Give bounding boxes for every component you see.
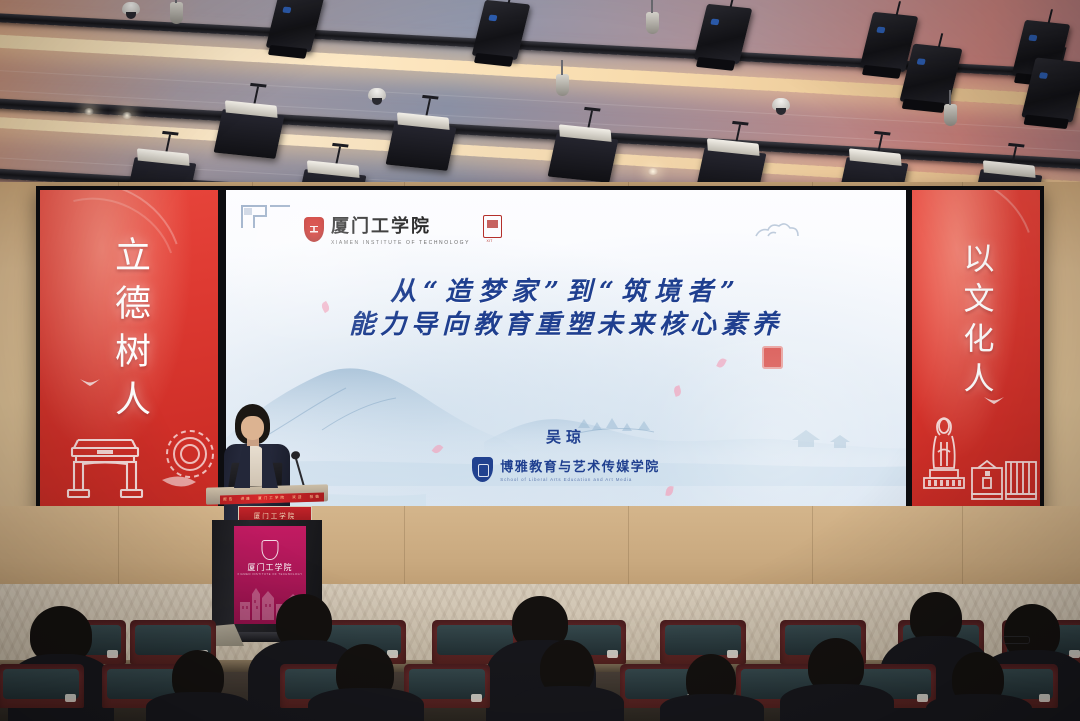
audience-shoulders	[926, 694, 1032, 721]
school-name-en: XIAMEN INSTITUTE OF TECHNOLOGY	[331, 240, 470, 246]
dome-camera-icon	[122, 2, 140, 14]
eyeglasses-icon	[1002, 636, 1030, 644]
podium-school-cn: 厦门工学院	[234, 562, 306, 573]
auditorium-lecture-photo: 立德树人	[0, 0, 1080, 721]
library-building-icon	[970, 456, 1038, 504]
audience-shoulders	[660, 694, 764, 721]
dome-camera-icon	[772, 98, 790, 110]
downlight-icon	[84, 108, 94, 115]
right-banner-text: 以文化人	[954, 242, 999, 402]
right-red-banner: 以文化人	[912, 190, 1040, 518]
stage-spotlight-icon	[548, 133, 619, 183]
petal-icon	[716, 357, 727, 369]
audience-area	[0, 592, 1080, 721]
podium-led-item: 厦门工学院	[258, 496, 286, 502]
flying-bird-icon	[80, 378, 100, 387]
slide-school-logo: 厦门工学院 XIAMEN INSTITUTE OF TECHNOLOGY XIT	[304, 212, 502, 246]
audience-shoulders	[780, 684, 894, 721]
pendant-light-icon	[944, 104, 957, 126]
school-badge-caption: XIT	[477, 239, 502, 243]
speaker-face	[241, 416, 264, 440]
left-banner-text: 立德树人	[103, 236, 155, 428]
podium-led-item: 欢迎	[292, 495, 303, 500]
slide-department: 博雅教育与艺术传媒学院 School of Liberal Arts Educa…	[226, 456, 906, 482]
school-badge-icon	[483, 215, 502, 238]
ceiling	[0, 0, 1080, 200]
statue-icon	[918, 412, 970, 508]
downlight-icon	[122, 112, 132, 119]
department-name-en: School of Liberal Arts Education and Art…	[500, 477, 660, 482]
presentation-slide: 厦门工学院 XIAMEN INSTITUTE OF TECHNOLOGY XIT…	[226, 190, 906, 518]
petal-icon	[665, 486, 673, 497]
podium-shield-icon	[262, 540, 279, 560]
podium-led-item: 讲座	[241, 497, 252, 502]
fret-corner-ornament-icon	[240, 200, 292, 230]
stage-spotlight-icon	[472, 0, 531, 60]
school-shield-icon	[304, 217, 324, 242]
department-shield-icon	[472, 457, 493, 482]
stage-spotlight-icon	[386, 121, 457, 171]
left-red-banner: 立德树人	[40, 190, 218, 518]
podium-led-strip: 报告 讲座 厦门工学院 欢迎 莅临	[220, 493, 324, 505]
cloud-ornament-icon	[752, 220, 810, 240]
flying-bird-icon	[984, 396, 1004, 405]
dome-camera-icon	[368, 88, 386, 100]
podium-led-item: 报告	[223, 497, 234, 502]
audience-shoulders	[512, 686, 624, 721]
stage-spotlight-icon	[214, 109, 285, 159]
stage-spotlight-icon	[266, 0, 325, 52]
audience-shoulders	[146, 692, 252, 721]
petal-icon	[673, 385, 683, 397]
pendant-light-icon	[646, 12, 659, 34]
podium-school-en: XIAMEN INSTITUTE OF TECHNOLOGY	[234, 573, 306, 576]
pendant-light-icon	[556, 74, 569, 96]
department-name-cn: 博雅教育与艺术传媒学院	[500, 456, 660, 475]
slide-title-line2: 能力导向教育重塑未来核心素养	[226, 309, 906, 342]
podium-led-item: 莅临	[310, 495, 321, 500]
pendant-light-icon	[170, 2, 183, 24]
archway-gate-icon	[62, 430, 148, 504]
led-video-wall: 立德树人	[36, 186, 1044, 522]
downlight-icon	[648, 168, 658, 175]
ink-wash-landscape-artwork	[226, 318, 906, 518]
audience-shoulders	[308, 688, 424, 721]
school-name-cn: 厦门工学院	[331, 212, 470, 238]
red-seal-stamp-icon	[762, 346, 783, 369]
slide-speaker-name: 吴琼	[226, 426, 906, 447]
